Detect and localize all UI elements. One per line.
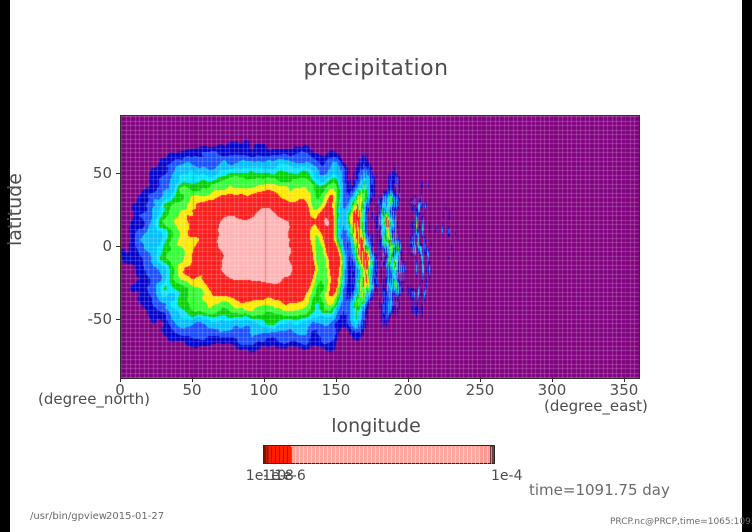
footer-date: 2015-01-27: [106, 511, 164, 522]
colorbar-gridline: [319, 447, 320, 464]
colorbar-gridline: [279, 447, 280, 464]
colorbar-gridline: [387, 447, 388, 464]
colorbar-gridline: [391, 447, 392, 464]
contour-plot-canvas: [121, 116, 639, 378]
y-axis-units-label: (degree_north): [38, 390, 150, 408]
colorbar-gridline: [367, 447, 368, 464]
colorbar-gridline: [351, 447, 352, 464]
x-axis-title: longitude: [10, 415, 742, 437]
colorbar-gridline: [479, 447, 480, 464]
y-tickmark: [116, 319, 121, 320]
colorbar-gradient: [263, 445, 495, 464]
colorbar-gridline: [343, 447, 344, 464]
figure-canvas: precipitation 0 50 100 150 200 250 300 3…: [10, 0, 742, 532]
colorbar-gridline: [431, 447, 432, 464]
colorbar-gridline: [295, 447, 296, 464]
colorbar-gridline: [267, 447, 268, 464]
contour-plot-area: [120, 115, 640, 379]
colorbar-gridline: [443, 447, 444, 464]
footer-command: /usr/bin/gpview: [30, 511, 107, 522]
colorbar-gridline: [355, 447, 356, 464]
colorbar-gridline: [423, 447, 424, 464]
colorbar-gridline: [275, 447, 276, 464]
colorbar-gridline: [291, 447, 292, 464]
x-axis-units-label: (degree_east): [544, 397, 648, 415]
colorbar-gridline: [323, 447, 324, 464]
colorbar-gridline: [271, 447, 272, 464]
footer-source: PRCP.nc@PRCP,time=1065:1095: [610, 517, 752, 527]
colorbar-gridline: [375, 447, 376, 464]
page-title: precipitation: [10, 56, 742, 81]
colorbar-gridline: [315, 447, 316, 464]
x-axis-tick-label: 50: [182, 381, 201, 399]
colorbar-gridline: [327, 447, 328, 464]
colorbar-gridline: [307, 447, 308, 464]
colorbar-gridline: [335, 447, 336, 464]
time-annotation: time=1091.75 day: [529, 481, 670, 499]
x-axis-tick-label: 150: [322, 381, 351, 399]
colorbar-tick-label-max: 1e-4: [491, 468, 522, 484]
colorbar-gridline: [415, 447, 416, 464]
colorbar-gridline: [451, 447, 452, 464]
y-axis-tick-label: 50: [68, 164, 112, 182]
colorbar-gridline: [439, 447, 440, 464]
x-axis-tick-label: 250: [466, 381, 495, 399]
colorbar-gridline: [463, 447, 464, 464]
screenshot-viewport: precipitation 0 50 100 150 200 250 300 3…: [0, 0, 752, 532]
colorbar-gridline: [459, 447, 460, 464]
colorbar-gridline: [471, 447, 472, 464]
colorbar-tick-label-mid-b: 1e-6: [274, 468, 305, 484]
colorbar-gridline: [407, 447, 408, 464]
x-axis-tick-label: 100: [250, 381, 279, 399]
colorbar-gridline: [371, 447, 372, 464]
colorbar-gridline: [467, 447, 468, 464]
colorbar-gridline: [339, 447, 340, 464]
colorbar-gridline: [483, 447, 484, 464]
colorbar-gridline: [363, 447, 364, 464]
y-axis-tick-label: 0: [68, 237, 112, 255]
colorbar-gridline: [403, 447, 404, 464]
colorbar-gridline: [427, 447, 428, 464]
colorbar-gridline: [347, 447, 348, 464]
colorbar-gridline: [311, 447, 312, 464]
colorbar-gridline: [447, 447, 448, 464]
colorbar-gridline: [331, 447, 332, 464]
colorbar-gridline: [475, 447, 476, 464]
y-tickmark: [116, 173, 121, 174]
colorbar-gridline: [395, 447, 396, 464]
colorbar-gridline: [411, 447, 412, 464]
x-axis-tick-label: 200: [394, 381, 423, 399]
colorbar-gridline: [455, 447, 456, 464]
colorbar-gridline: [359, 447, 360, 464]
colorbar-gridline: [435, 447, 436, 464]
colorbar-gridline: [491, 447, 492, 464]
y-axis-tick-label: -50: [68, 310, 112, 328]
colorbar: [263, 445, 495, 464]
colorbar-gridline: [487, 447, 488, 464]
colorbar-gridline: [383, 447, 384, 464]
y-tickmark: [116, 246, 121, 247]
colorbar-gridline: [419, 447, 420, 464]
colorbar-gridline: [299, 447, 300, 464]
colorbar-gridline: [379, 447, 380, 464]
colorbar-gridline: [303, 447, 304, 464]
colorbar-gridline: [399, 447, 400, 464]
y-axis-title: latitude: [4, 173, 26, 246]
colorbar-gridline: [283, 447, 284, 464]
colorbar-gridline: [287, 447, 288, 464]
